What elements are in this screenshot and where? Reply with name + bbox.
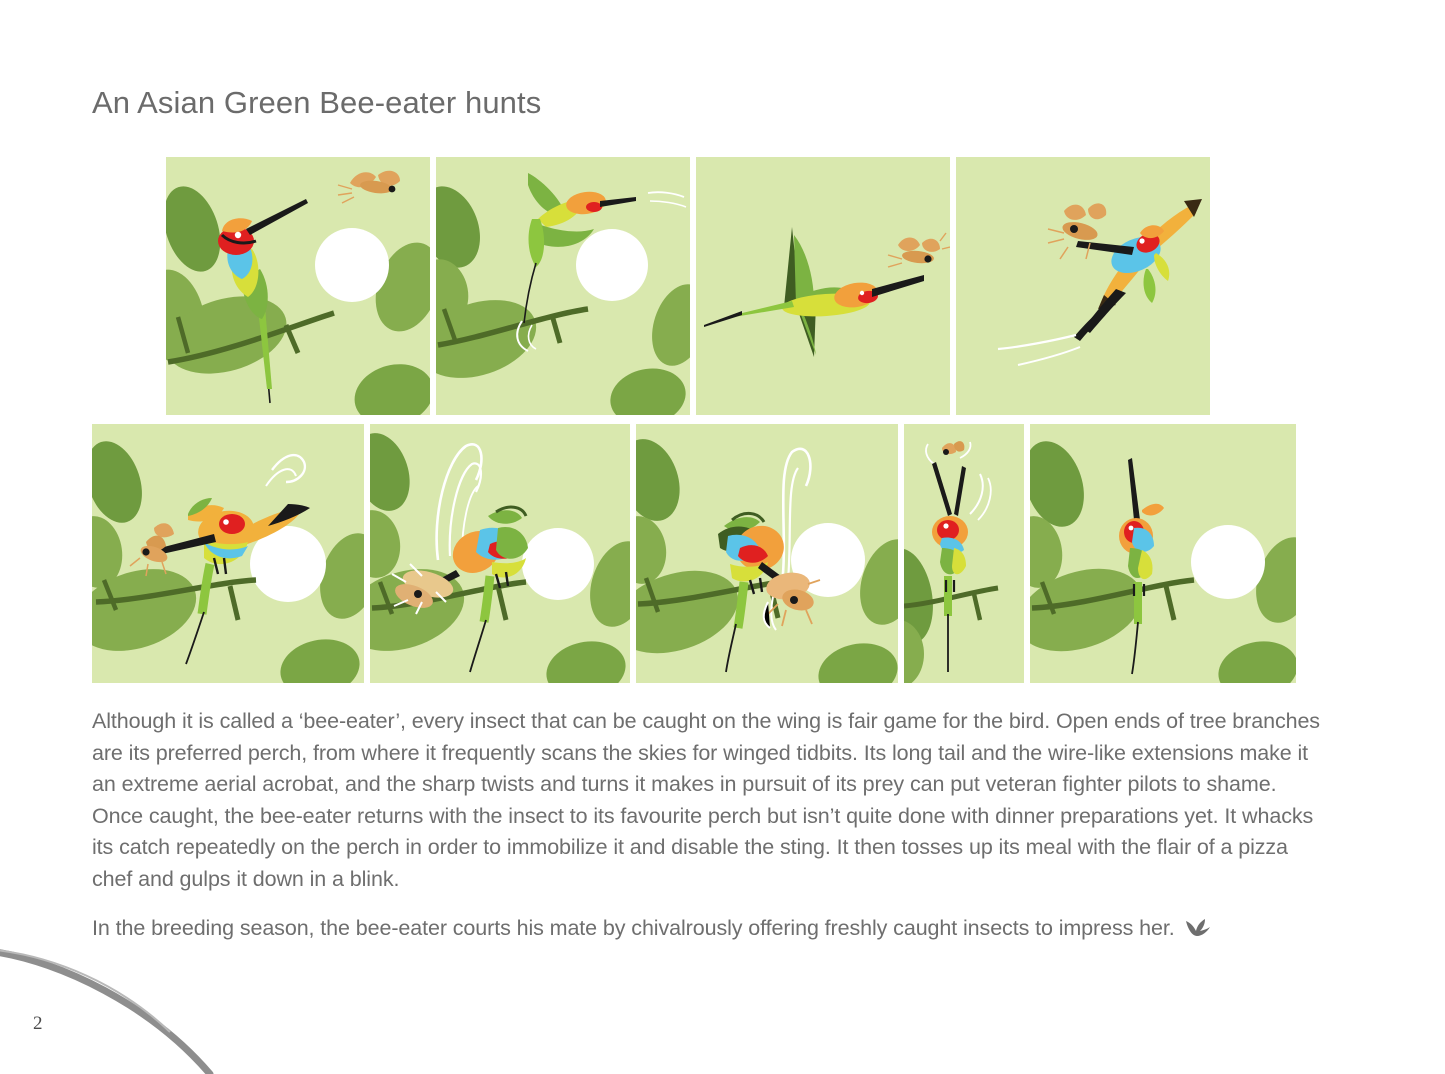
illustration-panel-7 — [636, 424, 898, 683]
comic-strip-top-row — [166, 157, 1210, 415]
illustration-panel-6 — [370, 424, 630, 683]
comic-strip-bottom-row — [92, 424, 1296, 683]
page-title: An Asian Green Bee-eater hunts — [92, 85, 541, 121]
paragraph-2: In the breeding season, the bee-eater co… — [92, 916, 1175, 940]
illustration-panel-2 — [436, 157, 690, 415]
illustration-panel-8 — [904, 424, 1024, 683]
illustration-panel-9 — [1030, 424, 1296, 683]
illustration-panel-3 — [696, 157, 950, 415]
page-number: 2 — [33, 1013, 43, 1035]
illustration-panel-5 — [92, 424, 364, 683]
sun-circle — [576, 229, 648, 301]
illustration-panel-4 — [956, 157, 1210, 415]
illustration-panel-1 — [166, 157, 430, 415]
bird-endmark-icon — [1185, 918, 1211, 938]
sun-circle — [1191, 525, 1265, 599]
sun-circle — [522, 528, 594, 600]
article-body: Although it is called a ‘bee-eater’, eve… — [92, 706, 1320, 945]
paragraph-1: Although it is called a ‘bee-eater’, eve… — [92, 706, 1320, 895]
sun-circle — [315, 228, 389, 302]
footer-decorative-arc — [0, 944, 330, 1074]
page: An Asian Green Bee-eater hunts — [0, 0, 1445, 1074]
